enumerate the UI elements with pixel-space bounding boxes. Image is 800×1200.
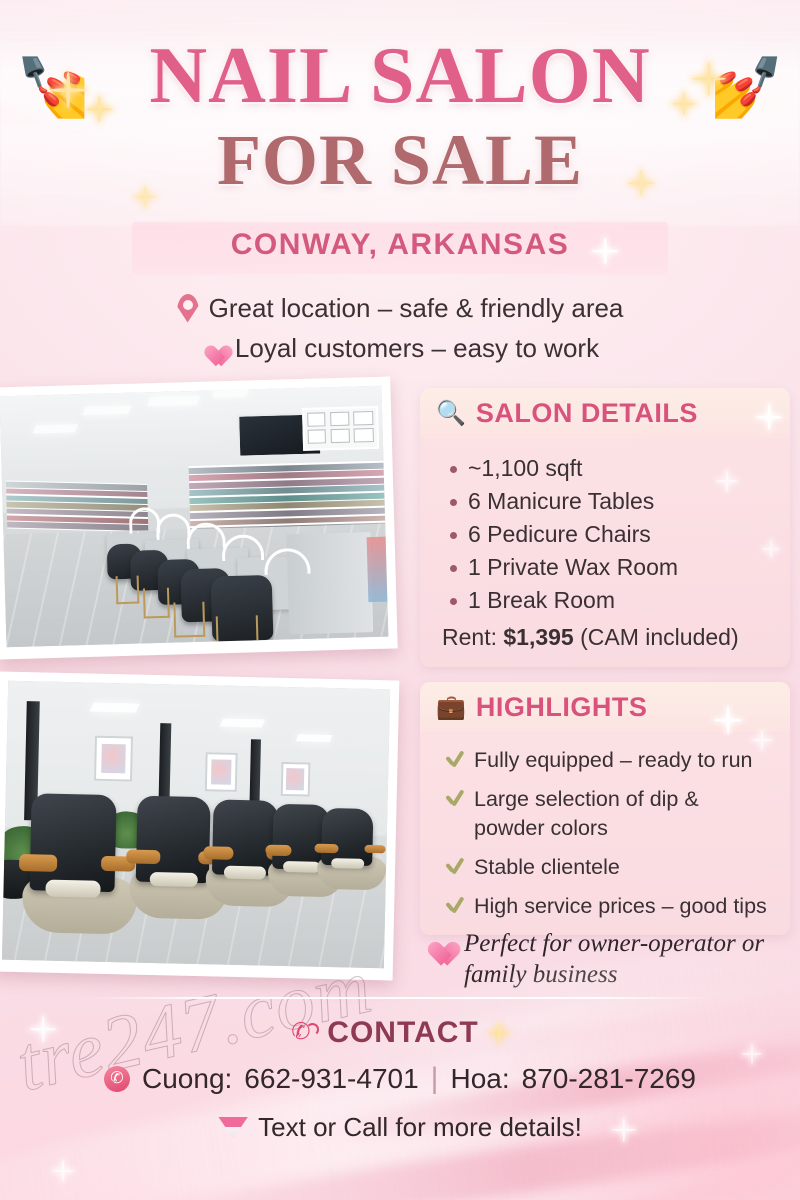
contact-phones-row: Cuong: 662-931-4701 | Hoa: 870-281-7269 — [0, 1062, 800, 1096]
rent-note: (CAM included) — [580, 624, 739, 650]
phone-link-1[interactable]: 662-931-4701 — [244, 1063, 418, 1095]
briefcase-icon: 💼 — [436, 693, 466, 722]
lead-points-list: Great location – safe & friendly area Lo… — [0, 288, 800, 368]
contact-title: CONTACT — [327, 1016, 478, 1050]
title-line-2: FOR SALE — [0, 120, 800, 200]
contact-divider — [86, 997, 714, 999]
rent-row: Rent: $1,395 (CAM included) — [442, 621, 772, 653]
phone-separator: | — [431, 1062, 439, 1096]
sparkle-icon — [52, 1160, 74, 1182]
list-item: 1 Private Wax Room — [442, 551, 772, 584]
highlights-list: Fully equipped – ready to run Large sele… — [442, 746, 772, 921]
rent-amount: $1,395 — [503, 624, 573, 650]
contact-cta-label: Text or Call for more details! — [258, 1112, 582, 1143]
list-item-label: Fully equipped – ready to run — [474, 748, 752, 772]
poster-title: NAIL SALON FOR SALE — [0, 34, 800, 200]
list-item: Large selection of dip & powder colors — [442, 785, 772, 843]
check-icon — [444, 856, 464, 876]
magnifying-glass-icon: 🔍 — [436, 399, 466, 428]
list-item-label: High service prices – good tips — [474, 894, 767, 918]
lead-point-label: Loyal customers – easy to work — [235, 328, 599, 368]
list-item-label: Stable clientele — [474, 855, 620, 879]
pedicure-chair — [22, 793, 140, 935]
list-item-label: Large selection of dip & powder colors — [474, 787, 699, 840]
salon-details-title: SALON DETAILS — [476, 398, 698, 429]
list-item: ~1,100 sqft — [442, 452, 772, 485]
poster-canvas: 💅 💅 NAIL SALON FOR SALE CONWAY, ARKANSAS… — [0, 0, 800, 1200]
list-item: 1 Break Room — [442, 584, 772, 617]
contact-name-1: Cuong: — [142, 1063, 232, 1095]
lead-point-row: Great location – safe & friendly area — [0, 288, 800, 328]
heart-icon — [201, 337, 225, 359]
ringing-phone-icon — [291, 1020, 317, 1046]
product-display-strip — [366, 536, 387, 602]
perfect-for-row: Perfect for owner-operator or family bus… — [424, 928, 794, 990]
rent-label: Rent: — [442, 624, 497, 650]
highlights-header: 💼 HIGHLIGHTS — [420, 682, 790, 732]
pedicure-chair — [317, 808, 388, 890]
list-item: High service prices – good tips — [442, 892, 772, 921]
list-item: Stable clientele — [442, 853, 772, 882]
check-icon — [444, 895, 464, 915]
highlights-card: 💼 HIGHLIGHTS Fully equipped – ready to r… — [420, 682, 790, 935]
title-line-1: NAIL SALON — [0, 34, 800, 118]
check-icon — [444, 749, 464, 769]
salon-interior-manicure-photo — [0, 376, 398, 659]
envelope-icon — [218, 1117, 248, 1139]
sparkle-icon — [489, 1023, 509, 1043]
salon-details-list: ~1,100 sqft 6 Manicure Tables 6 Pedicure… — [442, 452, 772, 617]
highlights-title: HIGHLIGHTS — [476, 692, 648, 723]
contact-cta-row: Text or Call for more details! — [0, 1112, 800, 1143]
lead-point-label: Great location – safe & friendly area — [209, 288, 624, 328]
contact-header: CONTACT — [0, 1016, 800, 1050]
polish-rack-left — [6, 480, 149, 531]
list-item: 6 Pedicure Chairs — [442, 518, 772, 551]
list-item: Fully equipped – ready to run — [442, 746, 772, 775]
perfect-for-label: Perfect for owner-operator or family bus… — [464, 928, 794, 990]
location-text: CONWAY, ARKANSAS — [0, 228, 800, 262]
location-pin-icon — [177, 294, 199, 323]
salon-details-card: 🔍 SALON DETAILS ~1,100 sqft 6 Manicure T… — [420, 388, 790, 667]
check-icon — [444, 788, 464, 808]
heart-icon — [424, 932, 459, 963]
list-item: 6 Manicure Tables — [442, 485, 772, 518]
reception-cabinet — [286, 532, 373, 635]
contact-name-2: Hoa: — [450, 1063, 509, 1095]
lead-point-row: Loyal customers – easy to work — [0, 328, 800, 368]
wall-frames — [302, 406, 380, 451]
salon-interior-pedicure-photo — [0, 672, 399, 981]
salon-details-header: 🔍 SALON DETAILS — [420, 388, 790, 438]
phone-icon[interactable] — [104, 1066, 130, 1092]
phone-link-2[interactable]: 870-281-7269 — [522, 1063, 696, 1095]
